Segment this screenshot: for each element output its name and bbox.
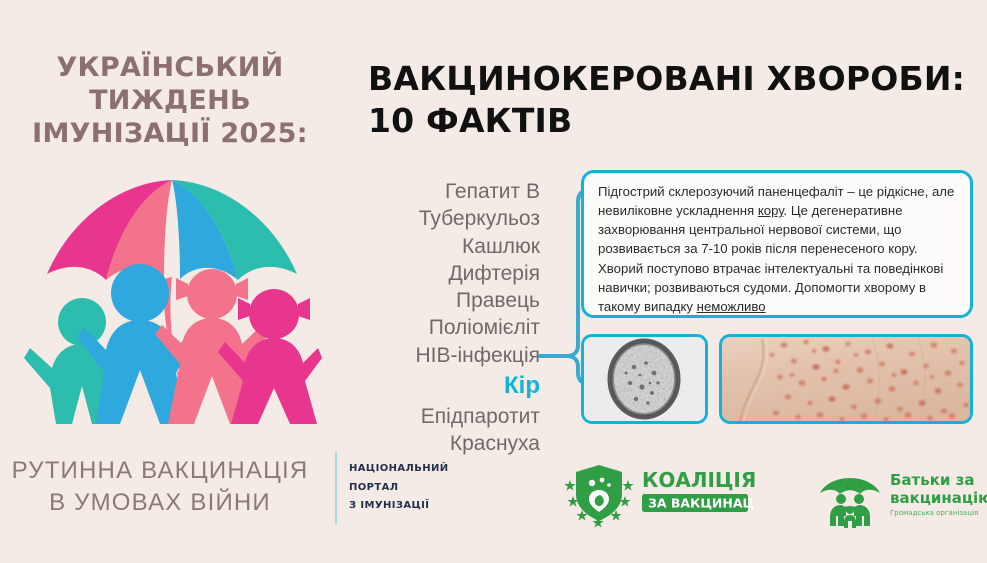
poster-canvas: УКРАЇНСЬКИЙ ТИЖДЕНЬ ІМУНІЗАЦІЇ 2025: bbox=[0, 0, 987, 563]
national-immunization-portal-logo: НАЦІОНАЛЬНИЙ ПОРТАЛ З ІМУНІЗАЦІЇ bbox=[349, 460, 459, 516]
coalition-logo-line-2: ЗА ВАКЦИНАЦІЮ bbox=[648, 496, 755, 511]
measles-rash-skin-image[interactable] bbox=[719, 334, 973, 424]
portal-line-2: ПОРТАЛ bbox=[349, 479, 459, 498]
disease-item-pertussis: Кашлюк bbox=[350, 233, 540, 260]
page-title: ВАКЦИНОКЕРОВАНІ ХВОРОБИ: 10 ФАКТІВ bbox=[368, 58, 983, 141]
campaign-title-line-2: ТИЖДЕНЬ bbox=[0, 85, 340, 118]
campaign-title: УКРАЇНСЬКИЙ ТИЖДЕНЬ ІМУНІЗАЦІЇ 2025: bbox=[0, 52, 340, 151]
measles-virus-micrograph-image[interactable] bbox=[581, 334, 708, 424]
headline-line-1: ВАКЦИНОКЕРОВАНІ ХВОРОБИ: bbox=[368, 58, 983, 100]
disease-item-tetanus: Правець bbox=[350, 287, 540, 314]
parents-for-vaccination-logo: Батьки за вакцинацію Громадська організа… bbox=[818, 458, 987, 528]
disease-item-tuberculosis: Туберкульоз bbox=[350, 205, 540, 232]
coalition-logo-line-1: КОАЛІЦІЯ bbox=[642, 468, 755, 492]
campaign-tagline-line-2: В УМОВАХ ВІЙНИ bbox=[0, 487, 320, 519]
campaign-title-line-3: ІМУНІЗАЦІЇ 2025: bbox=[0, 118, 340, 151]
fact-text-underlined-term: неможливо bbox=[697, 299, 766, 314]
headline-line-2: 10 ФАКТІВ bbox=[368, 100, 983, 142]
campaign-title-line-1: УКРАЇНСЬКИЙ bbox=[0, 52, 340, 85]
fact-callout-box: Підгострий склерозуючий паненцефаліт – ц… bbox=[581, 170, 973, 318]
portal-line-1: НАЦІОНАЛЬНИЙ bbox=[349, 460, 459, 479]
parents-logo-line-1: Батьки за bbox=[890, 471, 975, 489]
parents-logo-line-2: вакцинацію bbox=[890, 489, 987, 507]
portal-divider bbox=[335, 452, 337, 524]
disease-item-rubella: Краснуха bbox=[350, 430, 540, 457]
fact-text-underlined-term: кору bbox=[758, 203, 784, 218]
disease-item-mumps: Епідпаротит bbox=[350, 403, 540, 430]
portal-line-3: З ІМУНІЗАЦІЇ bbox=[349, 497, 459, 516]
disease-item-hib-infection: НІВ-інфекція bbox=[350, 342, 540, 369]
disease-item-hepatitis-b: Гепатит В bbox=[350, 178, 540, 205]
fact-text-run: . Це дегенеративне захворювання централь… bbox=[598, 203, 943, 314]
disease-item-diphtheria: Дифтерія bbox=[350, 260, 540, 287]
parents-logo-line-3: Громадська організація bbox=[890, 509, 978, 517]
campaign-tagline: РУТИННА ВАКЦИНАЦІЯ В УМОВАХ ВІЙНИ bbox=[0, 455, 320, 518]
coalition-for-vaccination-logo: КОАЛІЦІЯ ЗА ВАКЦИНАЦІЮ bbox=[560, 458, 755, 528]
disease-item-measles-selected[interactable]: Кір bbox=[350, 369, 540, 403]
disease-list: Гепатит В Туберкульоз Кашлюк Дифтерія Пр… bbox=[350, 178, 540, 458]
campaign-tagline-line-1: РУТИННА ВАКЦИНАЦІЯ bbox=[0, 455, 320, 487]
fact-text: Підгострий склерозуючий паненцефаліт – ц… bbox=[598, 182, 958, 316]
disease-item-poliomyelitis: Поліомієліт bbox=[350, 314, 540, 341]
umbrella-family-icon bbox=[22, 162, 322, 424]
